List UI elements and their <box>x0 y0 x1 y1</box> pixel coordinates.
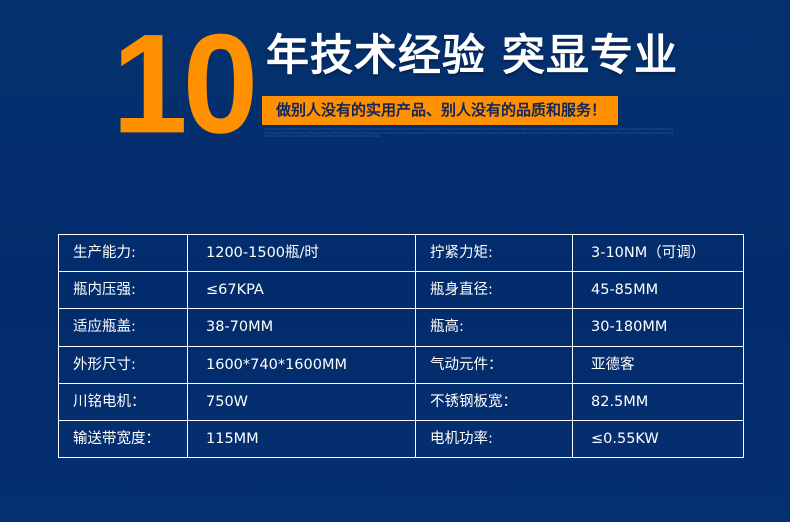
product-spec-banner: 10 年技术经验 突显专业 做别人没有的实用产品、别人没有的品质和服务！ DJX… <box>0 0 790 522</box>
decorative-microtext: DJXBGDXRCHXAGDJHBJEBFAKHBQKJAHHQGDHXBFHG… <box>264 128 674 150</box>
spec-label: 瓶身直径: <box>416 272 573 308</box>
table-row: 输送带宽度： 115MM 电机功率: ≤0.55KW <box>59 421 743 457</box>
table-row: 川铭电机： 750W 不锈钢板宽： 82.5MM <box>59 384 743 421</box>
spec-value: 750W <box>188 384 416 420</box>
spec-value: 1200-1500瓶/时 <box>188 235 416 271</box>
spec-label: 适应瓶盖: <box>59 309 188 345</box>
table-row: 瓶内压强: ≤67KPA 瓶身直径: 45-85MM <box>59 272 743 309</box>
spec-value: 1600*740*1600MM <box>188 347 416 383</box>
spec-value: 3-10NM（可调） <box>573 235 743 271</box>
spec-label: 输送带宽度： <box>59 421 188 457</box>
spec-value: 45-85MM <box>573 272 743 308</box>
spec-label: 拧紧力矩: <box>416 235 573 271</box>
spec-value: 亚德客 <box>573 347 743 383</box>
spec-label: 生产能力: <box>59 235 188 271</box>
spec-label: 不锈钢板宽： <box>416 384 573 420</box>
spec-value: 30-180MM <box>573 309 743 345</box>
table-row: 适应瓶盖: 38-70MM 瓶高: 30-180MM <box>59 309 743 346</box>
spec-label: 电机功率: <box>416 421 573 457</box>
table-row: 生产能力: 1200-1500瓶/时 拧紧力矩: 3-10NM（可调） <box>59 235 743 272</box>
headline-text: 年技术经验 突显专业 <box>266 28 678 84</box>
spec-label: 瓶内压强: <box>59 272 188 308</box>
specification-table: 生产能力: 1200-1500瓶/时 拧紧力矩: 3-10NM（可调） 瓶内压强… <box>58 234 744 458</box>
subtitle-text: 做别人没有的实用产品、别人没有的品质和服务！ <box>276 96 606 125</box>
spec-value: 38-70MM <box>188 309 416 345</box>
spec-value: 82.5MM <box>573 384 743 420</box>
spec-label: 瓶高: <box>416 309 573 345</box>
subtitle-banner: 做别人没有的实用产品、别人没有的品质和服务！ <box>262 96 618 125</box>
banner-header: 10 年技术经验 突显专业 做别人没有的实用产品、别人没有的品质和服务！ DJX… <box>0 0 790 165</box>
spec-value: 115MM <box>188 421 416 457</box>
spec-value: ≤67KPA <box>188 272 416 308</box>
spec-value: ≤0.55KW <box>573 421 743 457</box>
table-row: 外形尺寸: 1600*740*1600MM 气动元件： 亚德客 <box>59 347 743 384</box>
spec-label: 外形尺寸: <box>59 347 188 383</box>
spec-label: 气动元件： <box>416 347 573 383</box>
spec-label: 川铭电机： <box>59 384 188 420</box>
years-number: 10 <box>112 18 272 153</box>
